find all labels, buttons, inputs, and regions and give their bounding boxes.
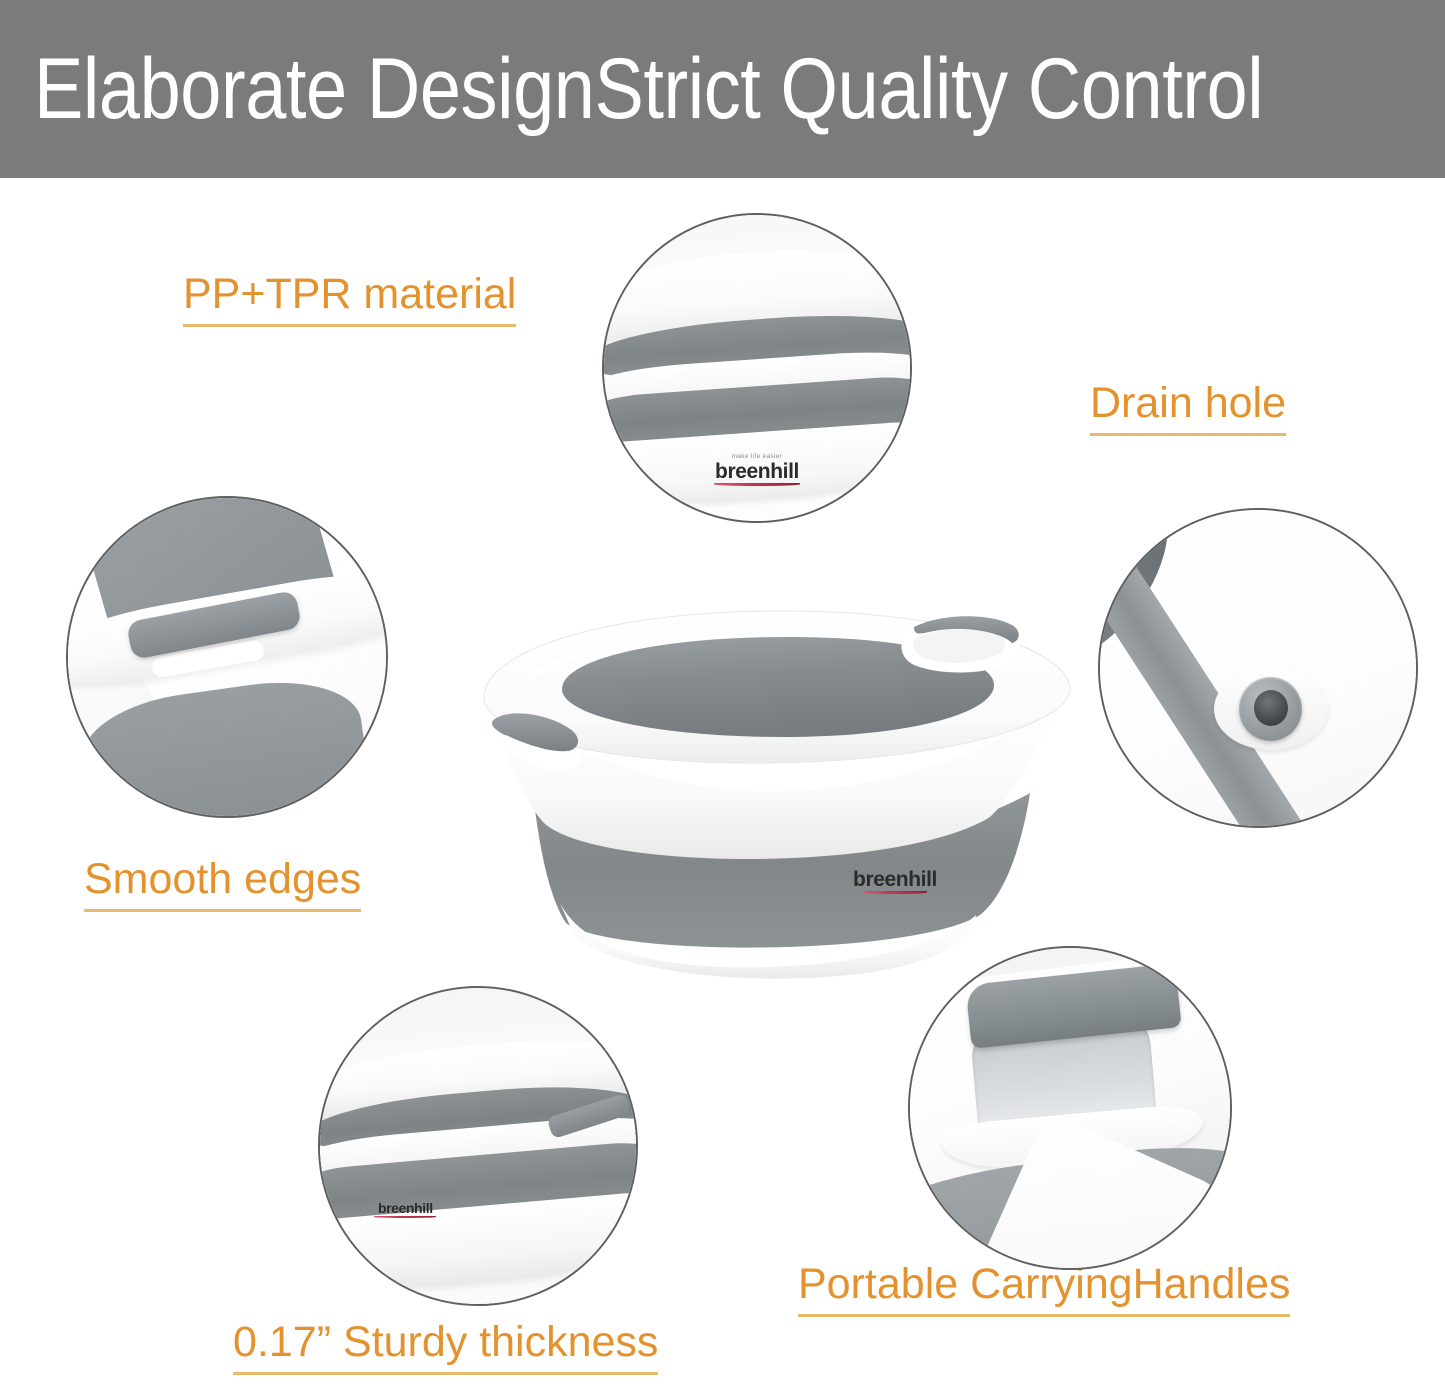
detail-image-pp-tpr-material: make life easier breenhill [604,215,910,521]
hero-product-image [470,585,1090,980]
brand-logo: make life easier breenhill [352,1197,459,1219]
callout-label-drain-hole: Drain hole [1090,381,1286,436]
header-banner: Elaborate Design Strict Quality Control [0,0,1445,178]
detail-circle-smooth-edges [66,496,388,818]
brand-logo: make life easier breenhill [684,454,831,486]
detail-circle-carrying-handles [908,946,1232,1270]
brand-swoosh-icon [374,1216,436,1218]
page-title: Elaborate Design Strict Quality Control [34,30,1229,148]
detail-circle-drain-hole [1098,508,1418,828]
detail-image-sturdy-thickness: make life easier breenhill [320,988,636,1304]
detail-image-smooth-edges [68,498,386,816]
callout-label-pp-tpr-material: PP+TPR material [183,272,516,327]
page-title-right: Strict Quality Control [595,46,1264,132]
detail-circle-pp-tpr-material: make life easier breenhill [602,213,912,523]
brand-name: breenhill [684,461,831,482]
brand-logo: make life easier breenhill [840,862,950,894]
detail-circle-sturdy-thickness: make life easier breenhill [318,986,638,1306]
brand-name: breenhill [352,1201,459,1215]
brand-swoosh-icon [714,483,799,486]
brand-name: breenhill [840,869,950,890]
infographic-page: Elaborate Design Strict Quality Control … [0,0,1445,1388]
callout-label-portable-carrying-handles: Portable CarryingHandles [798,1262,1290,1317]
callout-label-smooth-edges: Smooth edges [84,857,361,912]
detail-image-carrying-handles [910,948,1230,1268]
collapsible-laundry-basket-illustration [470,585,1090,980]
page-title-left: Elaborate Design [34,46,595,132]
detail-image-drain-hole [1100,510,1416,826]
brand-swoosh-icon [863,891,927,894]
callout-label-sturdy-thickness: 0.17” Sturdy thickness [233,1320,658,1375]
